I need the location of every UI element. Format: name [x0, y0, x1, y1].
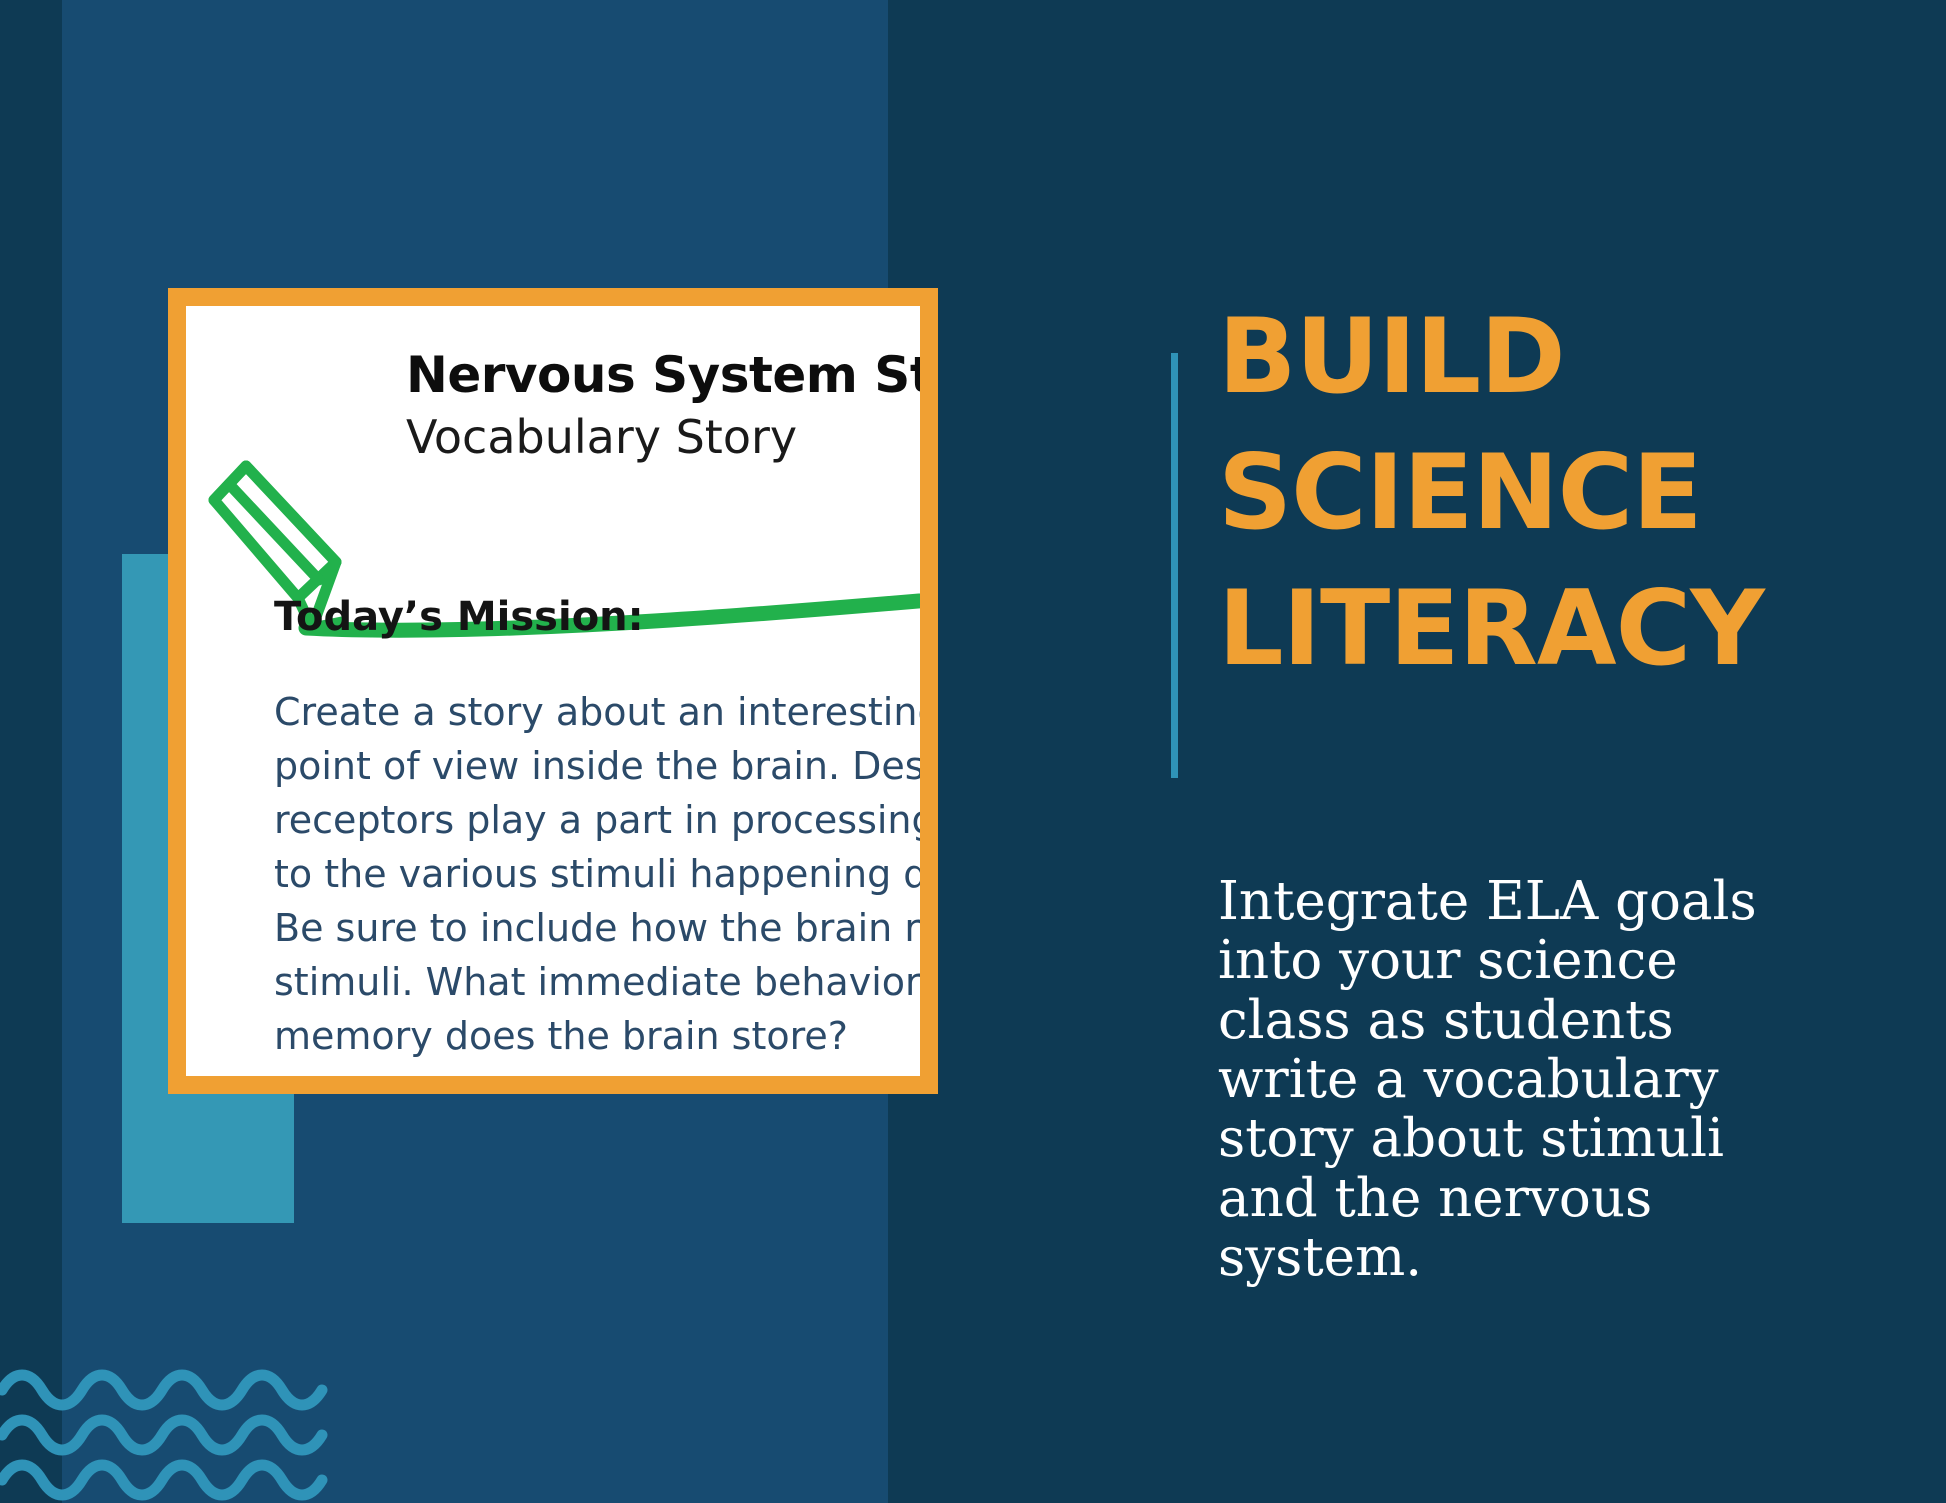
worksheet-subtitle: Vocabulary Story: [406, 410, 797, 464]
description-line: system.: [1218, 1228, 1928, 1287]
worksheet-body-line: memory does the brain store?: [274, 1010, 920, 1064]
description-line: story about stimuli: [1218, 1109, 1928, 1168]
worksheet-body-line: to the various stimuli happening d: [274, 848, 920, 902]
worksheet-body-line: stimuli. What immediate behavior: [274, 956, 920, 1010]
background-panel-dark-left: [0, 0, 62, 1503]
worksheet-mission-label: Today’s Mission:: [274, 594, 644, 640]
description-paragraph: Integrate ELA goals into your science cl…: [1218, 872, 1928, 1288]
slide-canvas: Nervous System Sti Vocabulary Story Toda…: [0, 0, 1946, 1503]
worksheet-page: Nervous System Sti Vocabulary Story Toda…: [186, 306, 920, 1076]
description-line: write a vocabulary: [1218, 1050, 1928, 1109]
description-line: and the nervous: [1218, 1169, 1928, 1228]
description-line: into your science: [1218, 931, 1928, 990]
headline-line-2: SCIENCE: [1218, 426, 1918, 562]
worksheet-body-line: Create a story about an interesting: [274, 686, 920, 740]
headline-line-1: BUILD: [1218, 290, 1918, 426]
description-line: Integrate ELA goals: [1218, 872, 1928, 931]
page-title: BUILD SCIENCE LITERACY: [1218, 290, 1918, 698]
worksheet-title: Nervous System Sti: [406, 346, 920, 404]
wave-decoration-icon: [0, 1368, 330, 1503]
worksheet-body-line: Be sure to include how the brain r: [274, 902, 920, 956]
description-line: class as students: [1218, 991, 1928, 1050]
worksheet-body-line: receptors play a part in processing: [274, 794, 920, 848]
worksheet-preview-card[interactable]: Nervous System Sti Vocabulary Story Toda…: [168, 288, 938, 1094]
headline-line-3: LITERACY: [1218, 562, 1918, 698]
worksheet-body-line: point of view inside the brain. Des: [274, 740, 920, 794]
headline-accent-rule: [1171, 353, 1178, 778]
worksheet-body-text: Create a story about an interesting poin…: [274, 686, 920, 1064]
